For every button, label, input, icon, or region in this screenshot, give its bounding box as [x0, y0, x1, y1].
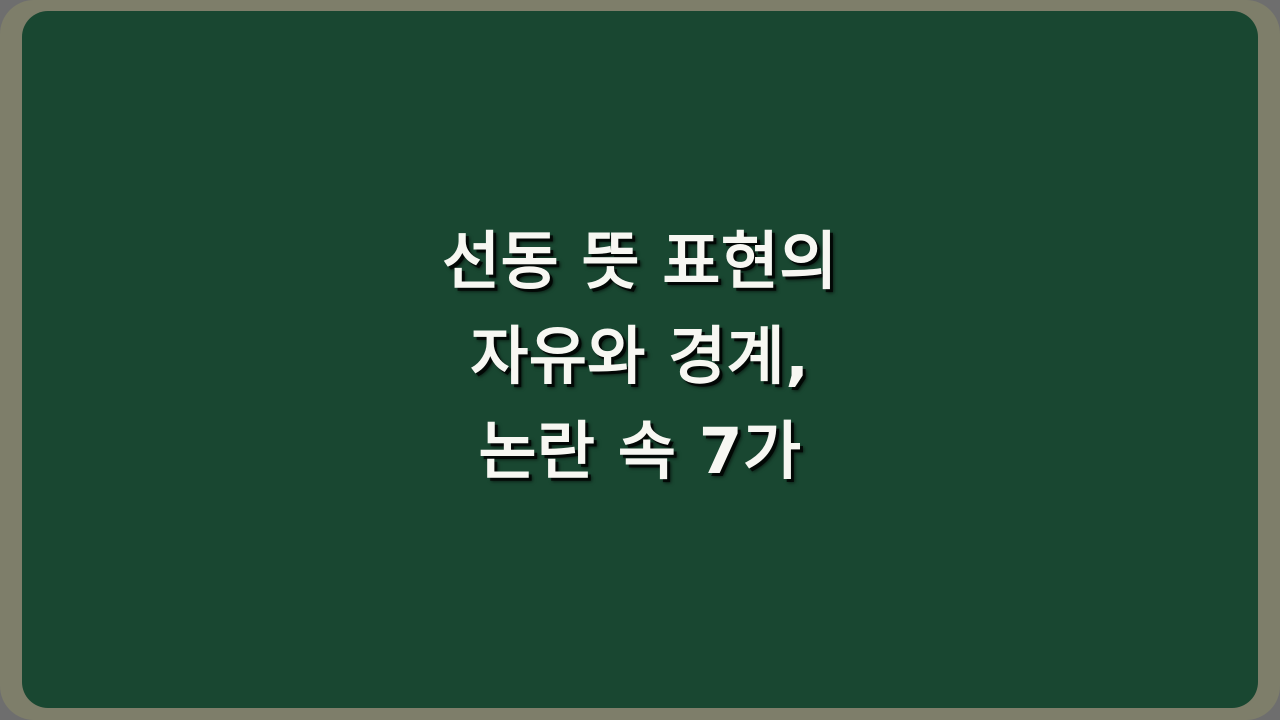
- title-line-3: 논란 속 7가: [22, 404, 1258, 499]
- title-block: 선동 뜻 표현의 자유와 경계, 논란 속 7가: [22, 214, 1258, 505]
- title-line-2: 자유와 경계,: [22, 309, 1258, 404]
- title-line-1: 선동 뜻 표현의: [22, 214, 1258, 309]
- chalkboard-panel: 선동 뜻 표현의 자유와 경계, 논란 속 7가: [22, 11, 1258, 708]
- card-frame: 선동 뜻 표현의 자유와 경계, 논란 속 7가: [0, 0, 1280, 720]
